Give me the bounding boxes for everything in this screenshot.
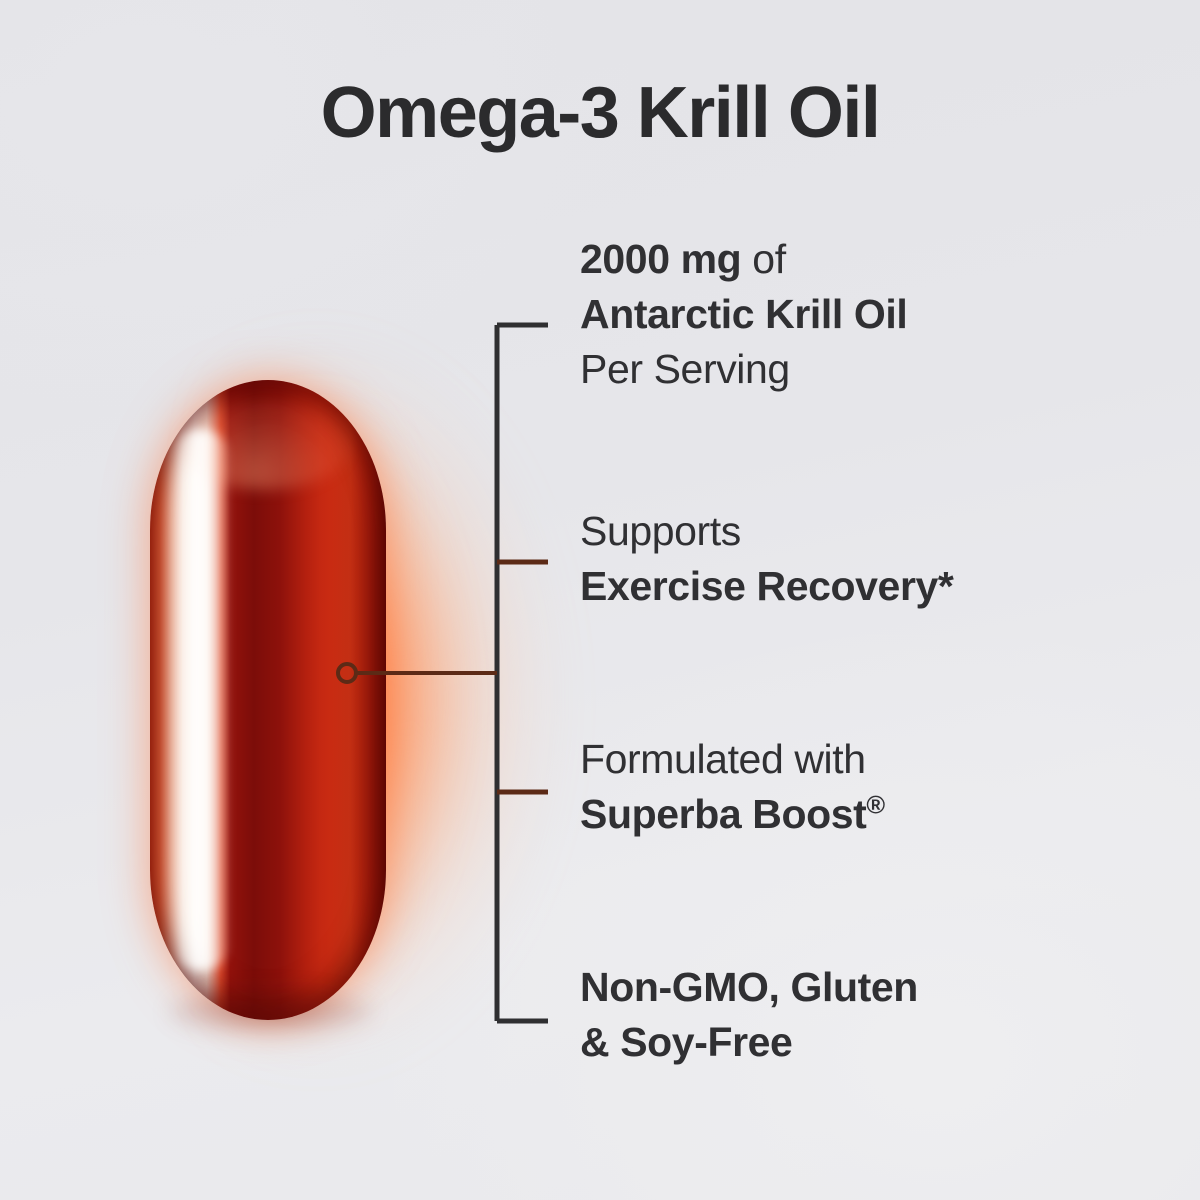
capsule-shadow [168,990,373,1034]
callout-line: Formulated with [580,732,1140,787]
dosage-amount: 2000 mg [580,236,741,282]
callout-line: Exercise Recovery* [580,559,1140,614]
product-image [60,300,620,1100]
callout-line: Non-GMO, Gluten [580,960,1140,1015]
infographic-root: Omega-3 Krill Oil 2000 mg of Antarctic K… [0,0,1200,1200]
callout-line: & Soy-Free [580,1015,1140,1070]
callout-line: Antarctic Krill Oil [580,287,1140,342]
brand-name: Superba Boost [580,791,866,837]
callout-benefit: Supports Exercise Recovery* [580,504,1140,614]
callout-line: Superba Boost® [580,787,1140,842]
registered-trademark-icon: ® [866,791,884,819]
callout-ingredient: Formulated with Superba Boost® [580,732,1140,842]
page-title: Omega-3 Krill Oil [0,72,1200,154]
capsule-highlight-icon [172,430,230,970]
callout-line: Per Serving [580,342,1140,397]
callout-dosage: 2000 mg of Antarctic Krill Oil Per Servi… [580,232,1140,397]
callout-line: Supports [580,504,1140,559]
callout-certifications: Non-GMO, Gluten & Soy-Free [580,960,1140,1070]
dosage-of: of [741,236,785,282]
callout-line: 2000 mg of [580,232,1140,287]
